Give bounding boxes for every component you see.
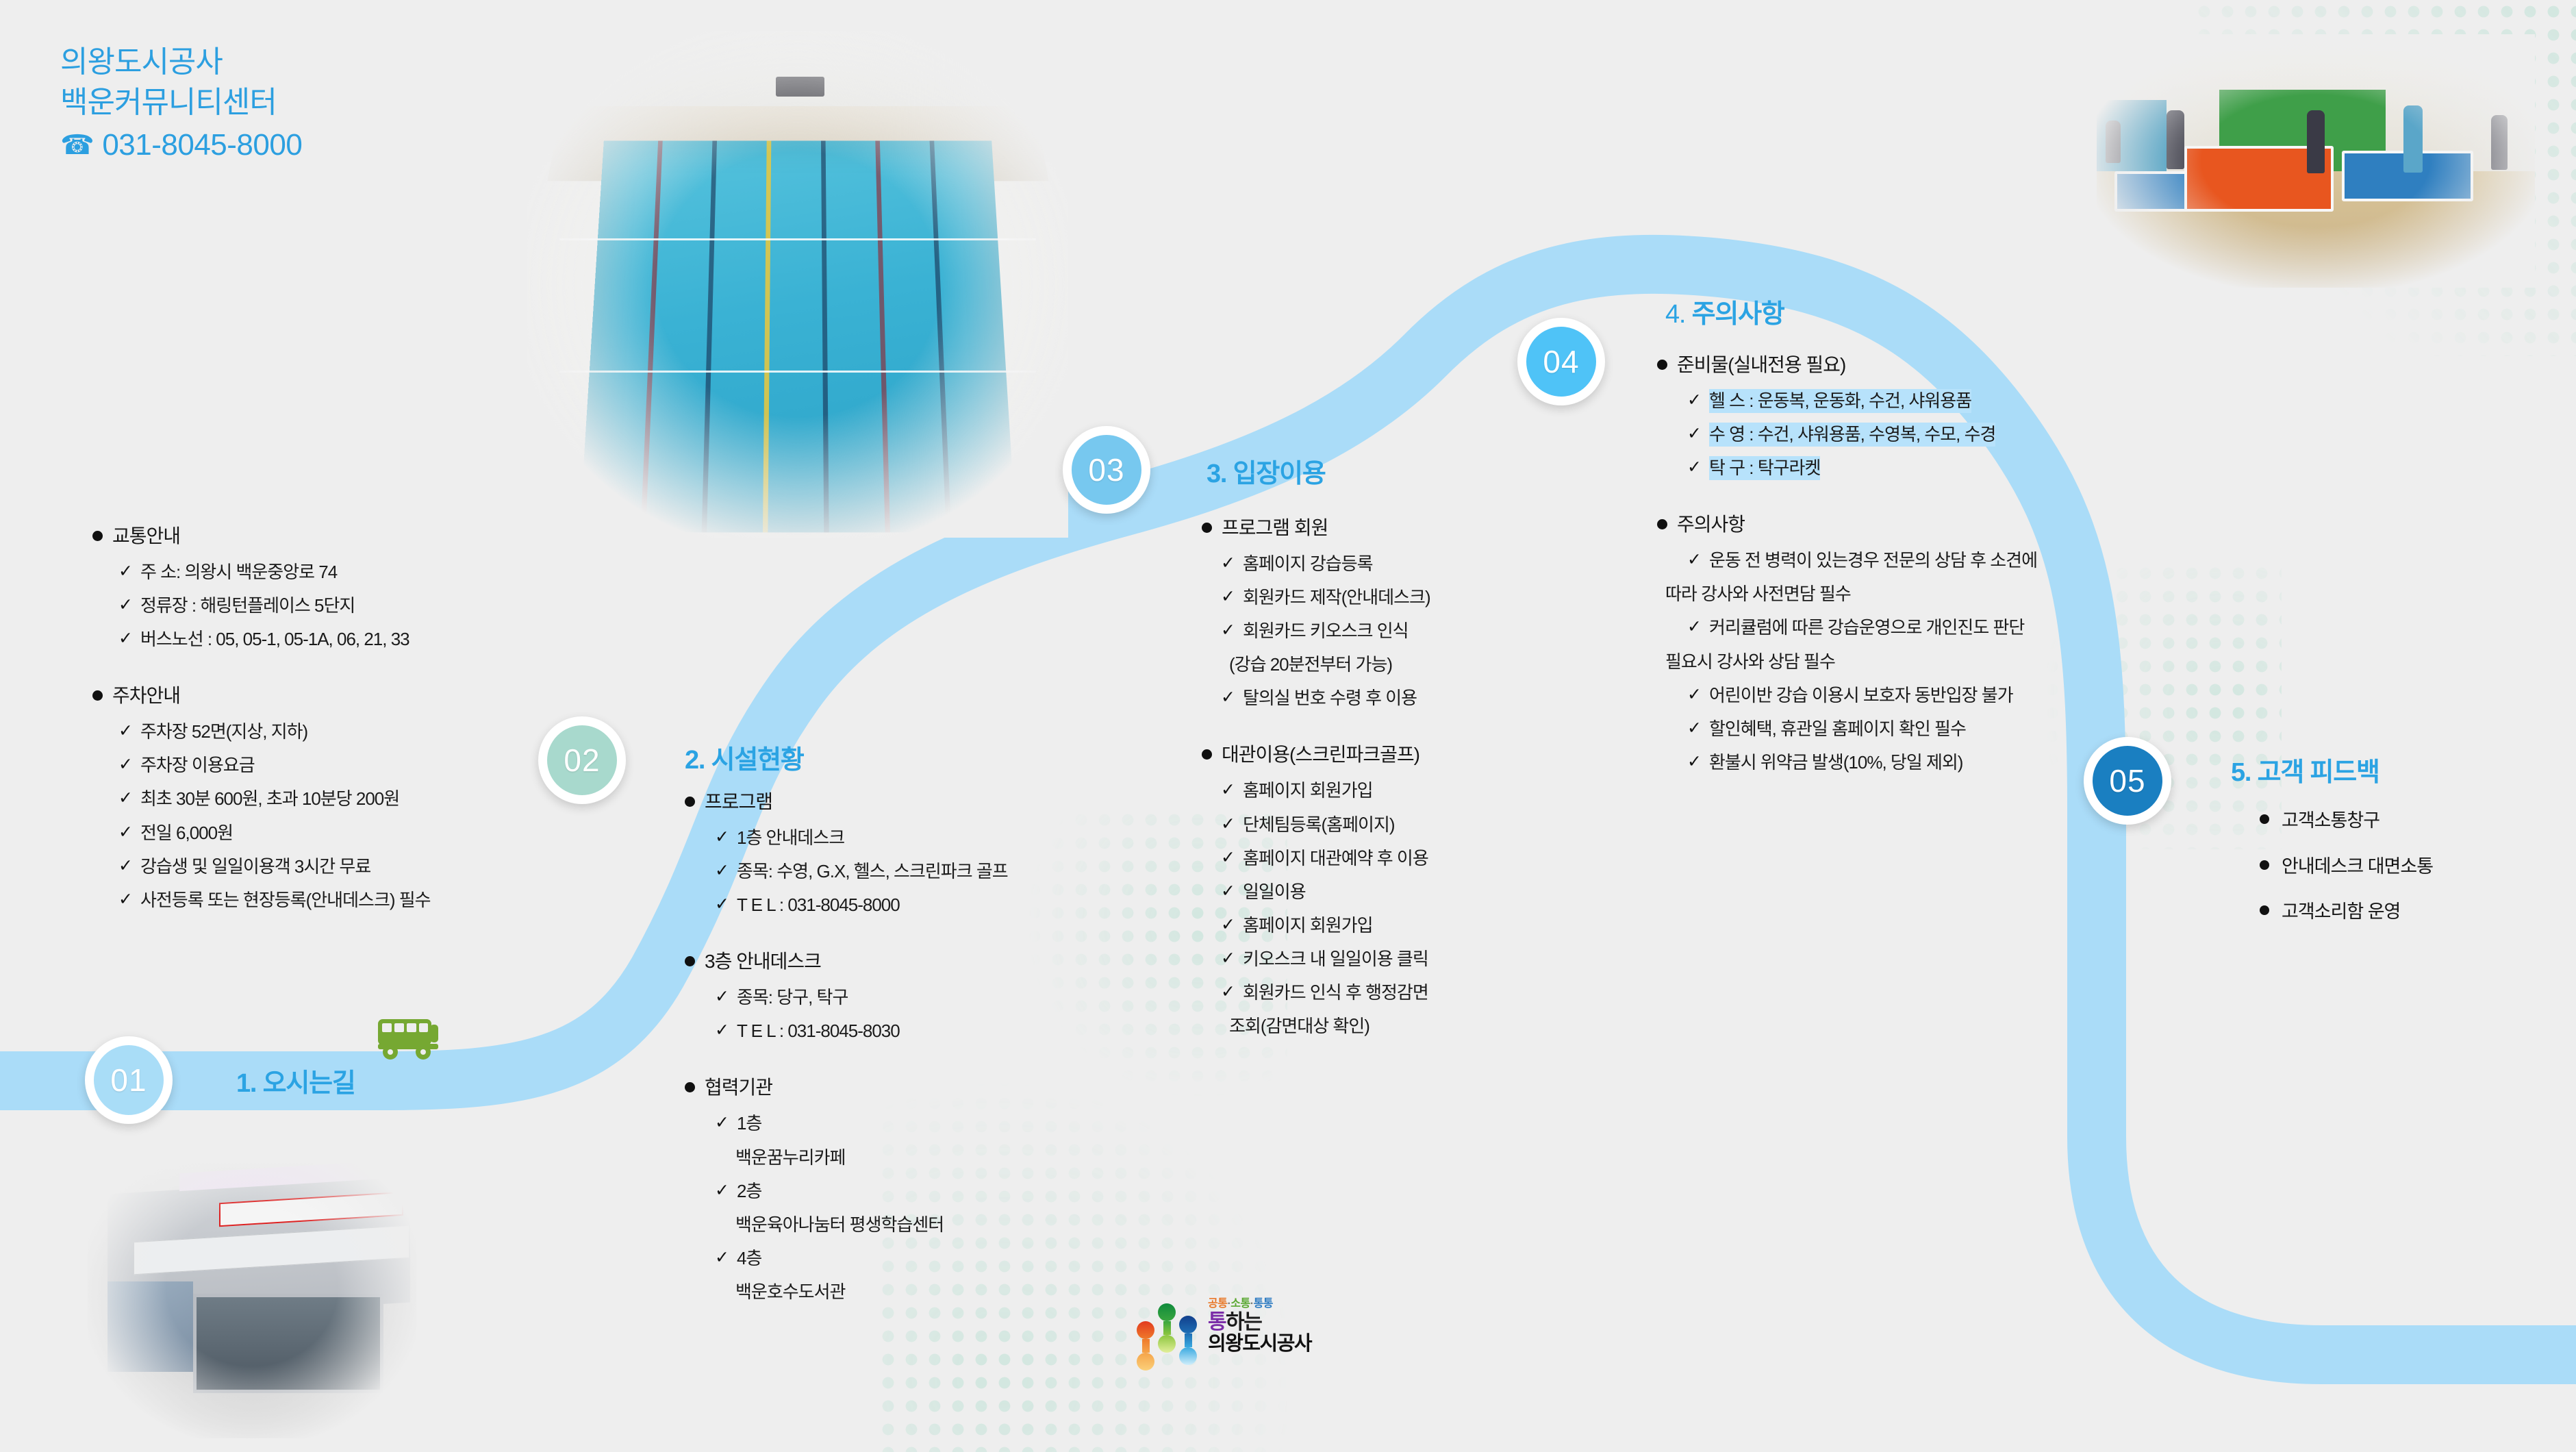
list-item-text: 종목: 당구, 탁구	[737, 986, 848, 1010]
list-item: ✓종목: 수영, G.X, 헬스, 스크린파크 골프	[715, 860, 1123, 884]
list-item: ✓홈페이지 회원가입	[1221, 779, 1613, 803]
bullet-dot-icon	[685, 797, 695, 807]
check-icon: ✓	[118, 594, 133, 617]
group-heading-row: 프로그램 회원	[1202, 514, 1613, 542]
check-icon: ✓	[1687, 456, 1702, 479]
check-icon: ✓	[118, 855, 133, 878]
list-item-text: 버스노선 : 05, 05-1, 05-1A, 06, 21, 33	[140, 627, 409, 651]
check-icon: ✓	[1687, 717, 1702, 740]
list-item-text: 어린이반 강습 이용시 보호자 동반입장 불가	[1709, 684, 2013, 708]
check-icon: ✓	[1687, 423, 1702, 446]
community-center-building-photo	[88, 1137, 416, 1438]
check-icon: ✓	[715, 893, 729, 916]
check-icon: ✓	[118, 821, 133, 844]
list-item: ✓탁 구 : 탁구라켓	[1687, 456, 2136, 480]
check-icon: ✓	[1221, 947, 1235, 971]
check-icon: ✓	[118, 753, 133, 777]
list-item-text: 단체팀등록(홈페이지)	[1243, 813, 1395, 837]
logo-main-line-2: 의왕도시공사	[1208, 1334, 1311, 1355]
group-heading-row: 프로그램	[685, 788, 1123, 816]
logo-main-line-1: 통하는	[1208, 1312, 1311, 1334]
check-icon: ✓	[715, 826, 729, 849]
list-item-text: 환불시 위약금 발생(10%, 당일 제외)	[1709, 751, 1963, 775]
check-icon: ✓	[1687, 549, 1702, 572]
list-item-text: 홈페이지 회원가입	[1243, 779, 1373, 803]
section-title-3: 3. 입장이용	[1207, 452, 1326, 490]
list-item-text: 회원카드 키오스크 인식	[1243, 619, 1409, 643]
check-icon: ✓	[1221, 552, 1235, 575]
step-badge-02: 02	[538, 716, 626, 804]
bus-icon	[375, 1014, 441, 1062]
list-item: ✓단체팀등록(홈페이지)	[1221, 813, 1613, 837]
header-block: 의왕도시공사 백운커뮤니티센터 ☎ 031-8045-8000	[60, 42, 302, 162]
dumbbell-blue-icon	[1179, 1316, 1197, 1365]
check-icon: ✓	[118, 720, 133, 743]
check-icon: ✓	[1687, 751, 1702, 774]
check-icon: ✓	[1221, 981, 1235, 1004]
list-item: ✓1층	[715, 1112, 1123, 1136]
list-item: 고객소통창구	[2260, 807, 2547, 835]
list-item: ✓회원카드 제작(안내데스크)	[1221, 586, 1613, 610]
list-item: 안내데스크 대면소통	[2260, 853, 2547, 881]
group-heading-row: 3층 안내데스크	[685, 947, 1123, 976]
section-4-label: 주의사항	[1692, 300, 1784, 329]
center-name: 백운커뮤니티센터	[60, 83, 302, 123]
list-continuation-text: 따라 강사와 사전면담 필수	[1665, 582, 2136, 606]
list-item: ✓일일이용	[1221, 880, 1613, 904]
group-heading: 주의사항	[1677, 510, 1745, 539]
bullet-dot-icon	[685, 956, 695, 966]
corporate-logo: 공통·소통·통통 통하는 의왕도시공사	[1137, 1298, 1311, 1370]
group-heading-row: 주차안내	[92, 681, 517, 710]
group-heading: 3층 안내데스크	[705, 947, 821, 976]
swimming-pool-photo	[527, 31, 1068, 538]
check-icon: ✓	[1221, 619, 1235, 642]
bullet-dot-icon	[2260, 860, 2269, 870]
bullet-dot-icon	[1657, 360, 1667, 370]
list-item-text: 전일 6,000원	[140, 821, 233, 845]
list-item: ✓키오스크 내 일일이용 클릭	[1221, 947, 1613, 971]
list-item: ✓2층	[715, 1179, 1123, 1203]
list-item-text: 정류장 : 해링턴플레이스 5단지	[140, 594, 355, 618]
group-heading-row: 준비물(실내전용 필요)	[1657, 351, 2136, 379]
check-icon: ✓	[1221, 847, 1235, 870]
bullet-dot-icon	[92, 690, 103, 701]
list-item: ✓홈페이지 대관예약 후 이용	[1221, 847, 1613, 871]
check-icon: ✓	[1221, 880, 1235, 903]
list-item: ✓어린이반 강습 이용시 보호자 동반입장 불가	[1687, 684, 2136, 708]
bullet-dot-icon	[1202, 523, 1212, 533]
list-item: ✓수 영 : 수건, 샤워용품, 수영복, 수모, 수경	[1687, 423, 2136, 447]
list-item: ✓주차장 이용요금	[118, 753, 517, 777]
section-title-2: 2. 시설현황	[685, 738, 804, 776]
list-note-text: 조회(감면대상 확인)	[1229, 1014, 1613, 1038]
check-icon: ✓	[1221, 813, 1235, 836]
check-icon: ✓	[118, 787, 133, 810]
bullet-dot-icon	[1657, 519, 1667, 529]
list-item-text: 회원카드 제작(안내데스크)	[1243, 586, 1430, 610]
group-heading: 대관이용(스크린파크골프)	[1222, 740, 1419, 769]
check-icon: ✓	[1687, 684, 1702, 707]
check-icon: ✓	[118, 560, 133, 584]
phone-row: ☎ 031-8045-8000	[60, 128, 302, 162]
list-item-text: 종목: 수영, G.X, 헬스, 스크린파크 골프	[737, 860, 1008, 884]
group-heading: 프로그램 회원	[1222, 514, 1328, 542]
group-heading: 주차안내	[112, 681, 180, 710]
list-item-text: 운동 전 병력이 있는경우 전문의 상담 후 소견에	[1709, 549, 2037, 573]
list-item: ✓회원카드 키오스크 인식	[1221, 619, 1613, 643]
list-item-text: 최초 30분 600원, 초과 10분당 200원	[140, 787, 399, 811]
spacer	[92, 651, 517, 681]
group-heading-row: 협력기관	[685, 1073, 1123, 1102]
list-item: ✓사전등록 또는 현장등록(안내데스크) 필수	[118, 888, 517, 912]
list-item-text: 탁 구 : 탁구라켓	[1709, 456, 1820, 480]
list-item: ✓커리큘럼에 따른 강습운영으로 개인진도 판단	[1687, 616, 2136, 640]
check-icon: ✓	[715, 860, 729, 883]
check-icon: ✓	[1687, 389, 1702, 412]
telephone-icon: ☎	[60, 132, 94, 159]
list-item-text: 1층	[737, 1112, 761, 1136]
list-continuation-text: 필요시 강사와 상담 필수	[1665, 650, 2136, 674]
list-item: ✓정류장 : 해링턴플레이스 5단지	[118, 594, 517, 618]
check-icon: ✓	[1221, 779, 1235, 802]
list-item-text: 일일이용	[1243, 880, 1306, 904]
list-item-text: 고객소통창구	[2282, 807, 2379, 835]
list-item-text: 1층 안내데스크	[737, 826, 844, 850]
phone-number: 031-8045-8000	[102, 128, 302, 162]
section-2-content: 프로그램 ✓1층 안내데스크 ✓종목: 수영, G.X, 헬스, 스크린파크 골…	[685, 788, 1123, 1304]
bullet-dot-icon	[92, 531, 103, 541]
bullet-dot-icon	[2260, 905, 2269, 915]
group-heading-row: 주의사항	[1657, 510, 2136, 539]
check-icon: ✓	[1687, 616, 1702, 639]
section-3-content: 프로그램 회원 ✓홈페이지 강습등록 ✓회원카드 제작(안내데스크) ✓회원카드…	[1202, 514, 1613, 1038]
list-subitem-text: 백운꿈누리카페	[735, 1146, 1123, 1170]
list-item: ✓최초 30분 600원, 초과 10분당 200원	[118, 787, 517, 811]
list-item: ✓헬 스 : 운동복, 운동화, 수건, 샤워용품	[1687, 389, 2136, 413]
section-title-1: 1. 오시는길	[236, 1062, 355, 1099]
list-item: ✓주차장 52면(지상, 지하)	[118, 720, 517, 744]
check-icon: ✓	[715, 1019, 729, 1042]
dumbbell-orange-icon	[1137, 1321, 1154, 1370]
list-item-text: T E L : 031-8045-8030	[737, 1019, 900, 1043]
list-item-text: 홈페이지 강습등록	[1243, 552, 1373, 576]
spacer	[1202, 710, 1613, 740]
logo-main-rest: 하는	[1226, 1311, 1261, 1334]
list-item-text: 할인혜택, 휴관일 홈페이지 확인 필수	[1709, 717, 1966, 741]
step-badge-03: 03	[1063, 426, 1150, 514]
list-item-text: 2층	[737, 1179, 761, 1203]
logo-tagline-3: 통통	[1254, 1298, 1273, 1310]
list-item: ✓탈의실 번호 수령 후 이용	[1221, 686, 1613, 710]
list-item: ✓강습생 및 일일이용객 3시간 무료	[118, 855, 517, 879]
list-item-text: 키오스크 내 일일이용 클릭	[1243, 947, 1428, 971]
logo-main-accent: 통	[1208, 1311, 1226, 1334]
check-icon: ✓	[1221, 686, 1235, 710]
list-item: ✓T E L : 031-8045-8000	[715, 893, 1123, 917]
check-icon: ✓	[118, 627, 133, 651]
list-item: ✓4층	[715, 1247, 1123, 1270]
spacer	[685, 1043, 1123, 1073]
table-tennis-photo	[2097, 34, 2535, 288]
list-item: ✓운동 전 병력이 있는경우 전문의 상담 후 소견에	[1687, 549, 2136, 573]
check-icon: ✓	[715, 1247, 729, 1270]
dumbbell-green-icon	[1158, 1303, 1176, 1353]
group-heading: 준비물(실내전용 필요)	[1677, 351, 1845, 379]
list-subitem-text: 백운호수도서관	[735, 1280, 1123, 1304]
logo-mark-icons	[1137, 1303, 1197, 1370]
list-item-text: 강습생 및 일일이용객 3시간 무료	[140, 855, 370, 879]
list-note-text: (강습 20분전부터 가능)	[1229, 653, 1613, 677]
list-item: ✓전일 6,000원	[118, 821, 517, 845]
list-item: ✓홈페이지 강습등록	[1221, 552, 1613, 576]
list-item-text: 안내데스크 대면소통	[2282, 853, 2433, 881]
list-item: ✓종목: 당구, 탁구	[715, 986, 1123, 1010]
group-heading-row: 교통안내	[92, 522, 517, 551]
list-item-text: 헬 스 : 운동복, 운동화, 수건, 샤워용품	[1709, 389, 1971, 413]
check-icon: ✓	[715, 1179, 729, 1203]
logo-text-block: 공통·소통·통통 통하는 의왕도시공사	[1208, 1298, 1311, 1355]
section-title-5: 5. 고객 피드백	[2231, 751, 2379, 788]
check-icon: ✓	[118, 888, 133, 912]
list-item-text: 회원카드 인식 후 행정감면	[1243, 981, 1428, 1005]
list-item: ✓회원카드 인식 후 행정감면	[1221, 981, 1613, 1005]
list-item: ✓주 소: 의왕시 백운중앙로 74	[118, 560, 517, 584]
list-item: ✓할인혜택, 휴관일 홈페이지 확인 필수	[1687, 717, 2136, 741]
check-icon: ✓	[715, 986, 729, 1009]
list-item-text: 4층	[737, 1247, 761, 1270]
logo-tagline-1: 공통	[1208, 1298, 1227, 1310]
spacer	[685, 917, 1123, 947]
check-icon: ✓	[1221, 914, 1235, 937]
check-icon: ✓	[1221, 586, 1235, 609]
bullet-dot-icon	[2260, 814, 2269, 824]
group-heading: 협력기관	[705, 1073, 772, 1102]
list-item-text: 탈의실 번호 수령 후 이용	[1243, 686, 1417, 710]
step-badge-01: 01	[85, 1036, 173, 1124]
logo-tagline-2: 소통	[1230, 1298, 1250, 1310]
section-title-4: 4. 주의사항	[1665, 292, 1784, 330]
spacer	[1657, 480, 2136, 510]
list-item-text: 커리큘럼에 따른 강습운영으로 개인진도 판단	[1709, 616, 2024, 640]
list-item-text: 주차장 이용요금	[140, 753, 255, 777]
list-item: 고객소리함 운영	[2260, 898, 2547, 926]
organization-name: 의왕도시공사	[60, 42, 302, 83]
list-subitem-text: 백운육아나눔터 평생학습센터	[735, 1213, 1123, 1237]
list-item-text: 주 소: 의왕시 백운중앙로 74	[140, 560, 337, 584]
list-item: ✓T E L : 031-8045-8030	[715, 1019, 1123, 1043]
list-item: ✓환불시 위약금 발생(10%, 당일 제외)	[1687, 751, 2136, 775]
list-item-text: 고객소리함 운영	[2282, 898, 2400, 926]
list-item-text: 사전등록 또는 현장등록(안내데스크) 필수	[140, 888, 431, 912]
bullet-dot-icon	[1202, 749, 1212, 760]
section-4-number: 4.	[1665, 300, 1692, 329]
section-4-content: 준비물(실내전용 필요) ✓헬 스 : 운동복, 운동화, 수건, 샤워용품 ✓…	[1657, 351, 2136, 775]
list-item-text: 주차장 52면(지상, 지하)	[140, 720, 307, 744]
list-item: ✓홈페이지 회원가입	[1221, 914, 1613, 938]
list-item: ✓1층 안내데스크	[715, 826, 1123, 850]
check-icon: ✓	[715, 1112, 729, 1135]
step-badge-04: 04	[1517, 318, 1605, 405]
list-item: ✓버스노선 : 05, 05-1, 05-1A, 06, 21, 33	[118, 627, 517, 651]
group-heading: 교통안내	[112, 522, 180, 551]
logo-tagline: 공통·소통·통통	[1208, 1298, 1311, 1310]
list-item-text: 홈페이지 회원가입	[1243, 914, 1373, 938]
section-5-content: 고객소통창구 안내데스크 대면소통 고객소리함 운영	[2260, 807, 2547, 944]
group-heading: 프로그램	[705, 788, 772, 816]
list-item-text: 수 영 : 수건, 샤워용품, 수영복, 수모, 수경	[1709, 423, 1995, 447]
list-item-text: T E L : 031-8045-8000	[737, 893, 900, 917]
section-1-content: 교통안내 ✓주 소: 의왕시 백운중앙로 74 ✓정류장 : 해링턴플레이스 5…	[92, 522, 517, 912]
bullet-dot-icon	[685, 1082, 695, 1092]
list-item-text: 홈페이지 대관예약 후 이용	[1243, 847, 1428, 871]
group-heading-row: 대관이용(스크린파크골프)	[1202, 740, 1613, 769]
